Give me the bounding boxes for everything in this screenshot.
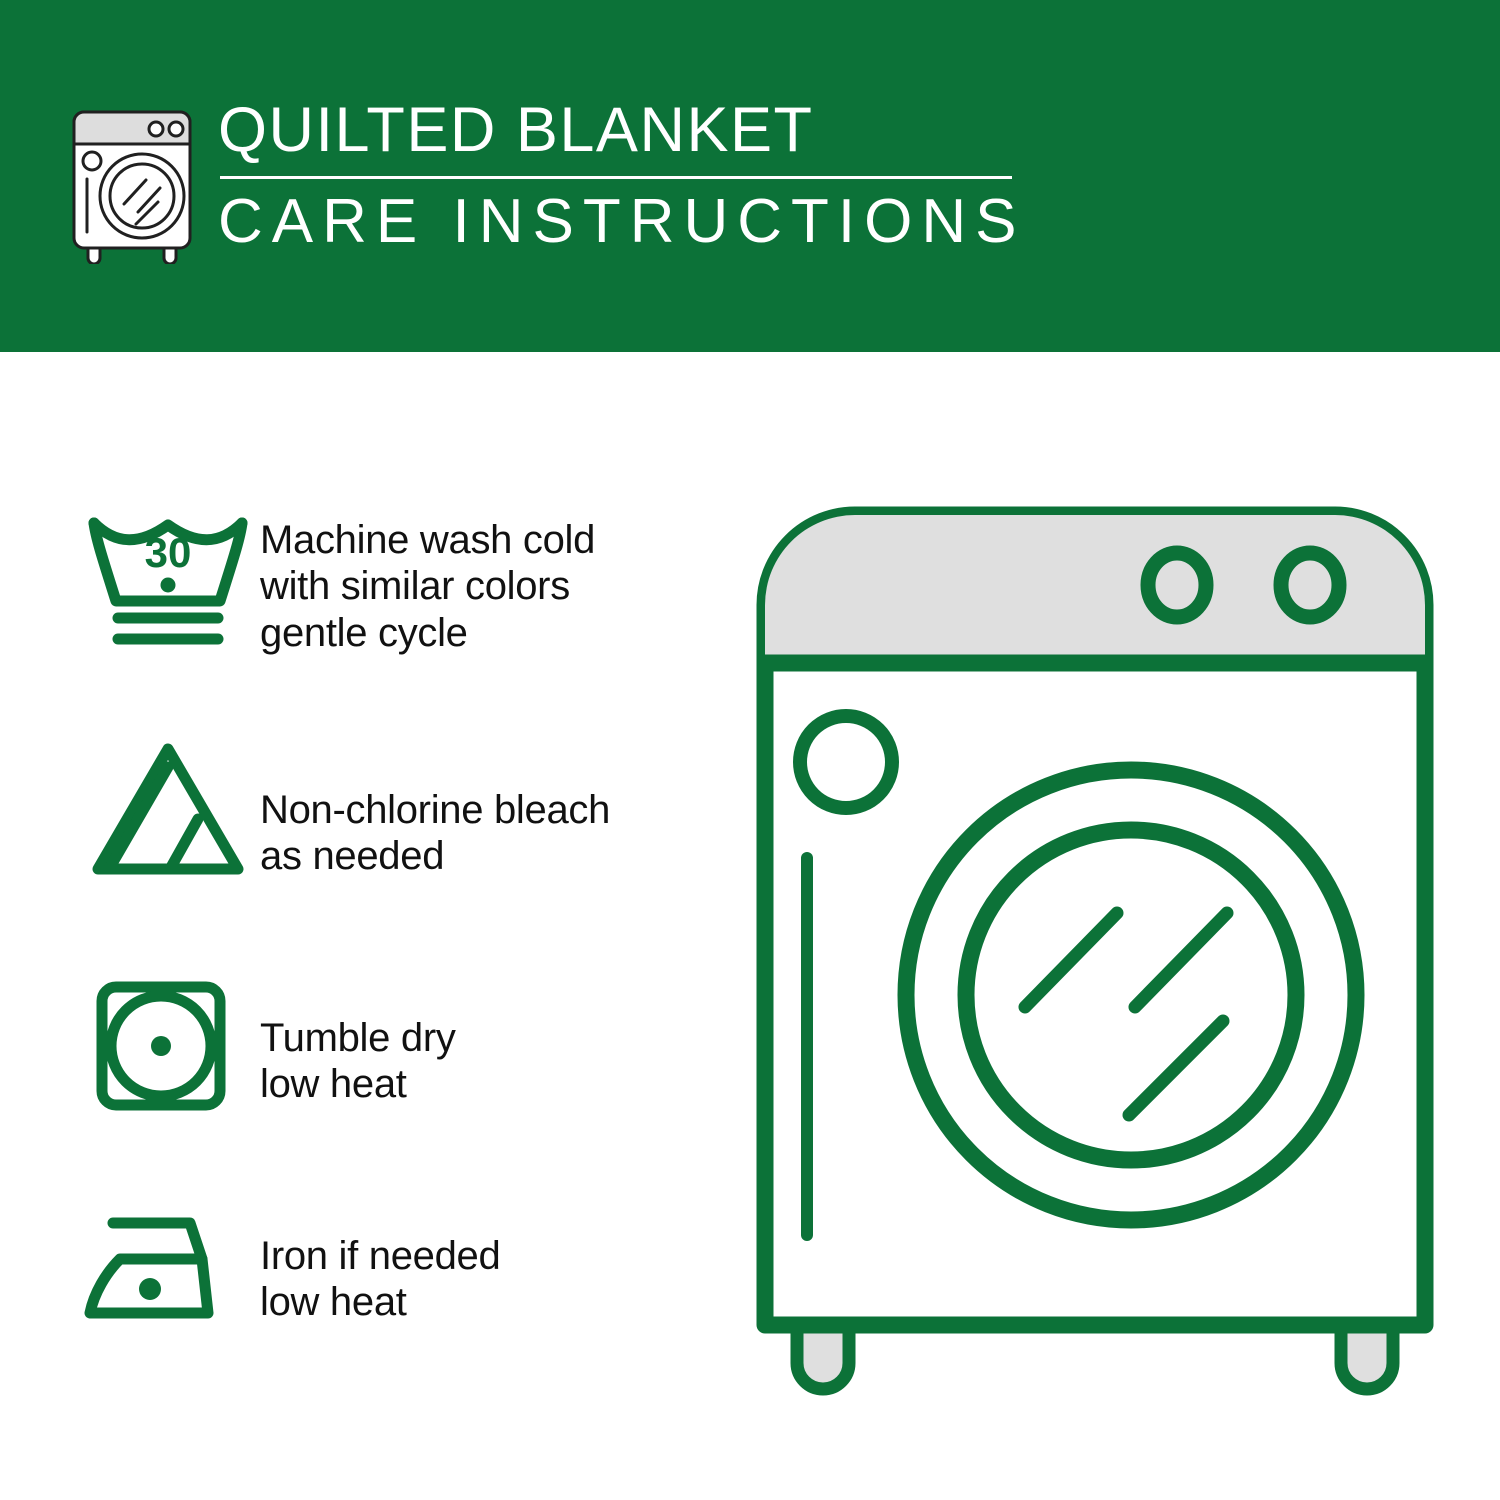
- knob-right: [1281, 553, 1339, 617]
- care-item-bleach-text: Non-chlorine bleach as needed: [260, 737, 730, 880]
- knob-left: [1148, 553, 1206, 617]
- care-line: with similar colors: [260, 563, 730, 609]
- care-line: Tumble dry: [260, 1015, 730, 1061]
- care-item-bleach: Non-chlorine bleach as needed: [70, 737, 730, 969]
- gentle-cycle-dot: [161, 578, 176, 593]
- header-title-group: QUILTED BLANKET CARE INSTRUCTIONS: [218, 98, 1018, 254]
- washing-machine-icon: [62, 104, 202, 264]
- header-banner: QUILTED BLANKET CARE INSTRUCTIONS: [0, 0, 1500, 352]
- care-item-tumble-dry: Tumble dry low heat: [70, 969, 730, 1201]
- care-line: low heat: [260, 1279, 730, 1325]
- care-line: low heat: [260, 1061, 730, 1107]
- care-item-wash: 30 Machine wash cold with similar colors…: [70, 505, 730, 737]
- page-subtitle: CARE INSTRUCTIONS: [218, 189, 1018, 254]
- care-instruction-list: 30 Machine wash cold with similar colors…: [70, 505, 730, 1433]
- wash-temperature-value: 30: [145, 529, 192, 576]
- bleach-triangle-icon: [70, 737, 260, 887]
- care-line: Machine wash cold: [260, 517, 730, 563]
- low-heat-dot: [151, 1036, 171, 1056]
- care-label-page: QUILTED BLANKET CARE INSTRUCTIONS 30: [0, 0, 1500, 1500]
- care-item-iron: Iron if needed low heat: [70, 1201, 730, 1433]
- tumble-dry-icon: [70, 969, 260, 1119]
- care-item-tumble-dry-text: Tumble dry low heat: [260, 969, 730, 1108]
- iron-low-heat-dot: [139, 1278, 161, 1300]
- care-line: Non-chlorine bleach: [260, 787, 730, 833]
- title-divider: [220, 176, 1012, 179]
- care-item-wash-text: Machine wash cold with similar colors ge…: [260, 505, 730, 656]
- iron-icon: [70, 1201, 260, 1351]
- washing-machine-illustration: [745, 495, 1445, 1425]
- care-line: as needed: [260, 833, 730, 879]
- page-title: QUILTED BLANKET: [218, 98, 1018, 162]
- care-line: gentle cycle: [260, 610, 730, 656]
- wash-tub-30-icon: 30: [70, 505, 260, 655]
- care-line: Iron if needed: [260, 1233, 730, 1279]
- care-item-iron-text: Iron if needed low heat: [260, 1201, 730, 1326]
